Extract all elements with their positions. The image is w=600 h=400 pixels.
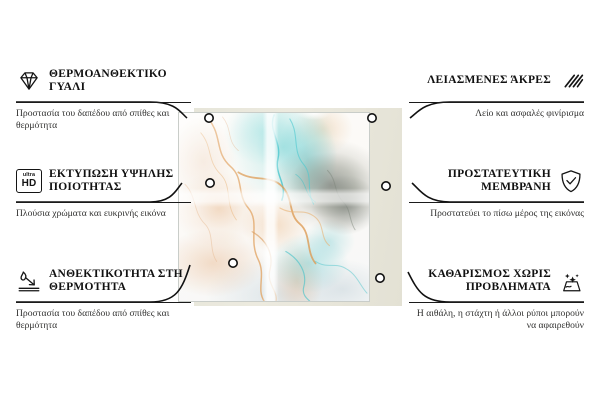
feature-description: Προστασία του δαπέδου από σπίθες και θερ…	[16, 308, 191, 332]
feature-header: ΠΡΟΣΤΑΤΕΥΤΙΚΗ ΜΕΜΒΡΑΝΗ	[409, 164, 584, 198]
feature-heat-resistant-glass: ΘΕΡΜΟΑΝΘΕΚΤΙΚΟ ΓΥΑΛΙ Προστασία του δαπέδ…	[16, 64, 191, 132]
feature-title: ΑΝΘΕΚΤΙΚΟΤΗΤΑ ΣΤΗ ΘΕΡΜΟΤΗΤΑ	[49, 268, 191, 295]
feature-divider	[16, 302, 191, 303]
feature-divider	[409, 202, 584, 203]
feature-divider	[16, 102, 191, 103]
feature-description: Η αιθάλη, η στάχτη ή άλλοι ρύποι μπορούν…	[409, 308, 584, 332]
product-image	[178, 108, 402, 306]
feature-divider	[409, 102, 584, 103]
ultra-hd-icon: ultra HD	[16, 169, 42, 193]
feature-title: ΠΡΟΣΤΑΤΕΥΤΙΚΗ ΜΕΜΒΡΑΝΗ	[409, 168, 551, 195]
artwork-ink-veins	[179, 113, 369, 301]
feature-title: ΘΕΡΜΟΑΝΘΕΚΤΙΚΟ ΓΥΑΛΙ	[49, 68, 191, 95]
feature-title: ΚΑΘΑΡΙΣΜΟΣ ΧΩΡΙΣ ΠΡΟΒΛΗΜΑΤΑ	[409, 268, 551, 295]
heat-resistance-icon	[16, 268, 42, 294]
feature-heat-resistance: ΑΝΘΕΚΤΙΚΟΤΗΤΑ ΣΤΗ ΘΕΡΜΟΤΗΤΑ Προστασία το…	[16, 264, 191, 332]
feature-description: Πλούσια χρώματα και ευκρινής εικόνα	[16, 208, 191, 220]
feature-header: ultra HD ΕΚΤΥΠΩΣΗ ΥΨΗΛΗΣ ΠΟΙΟΤΗΤΑΣ	[16, 164, 191, 198]
diamond-icon	[16, 68, 42, 94]
feature-divider	[409, 302, 584, 303]
feature-header: ΛΕΙΑΣΜΕΝΕΣ ΆΚΡΕΣ	[409, 64, 584, 98]
feature-description: Λείο και ασφαλές φινίρισμα	[409, 108, 584, 120]
feature-high-quality-print: ultra HD ΕΚΤΥΠΩΣΗ ΥΨΗΛΗΣ ΠΟΙΟΤΗΤΑΣ Πλούσ…	[16, 164, 191, 220]
feature-header: ΘΕΡΜΟΑΝΘΕΚΤΙΚΟ ΓΥΑΛΙ	[16, 64, 191, 98]
feature-description: Προστασία του δαπέδου από σπίθες και θερ…	[16, 108, 191, 132]
feature-polished-edges: ΛΕΙΑΣΜΕΝΕΣ ΆΚΡΕΣ Λείο και ασφαλές φινίρι…	[409, 64, 584, 120]
ultra-hd-icon-main-label: HD	[22, 179, 37, 189]
feature-title: ΕΚΤΥΠΩΣΗ ΥΨΗΛΗΣ ΠΟΙΟΤΗΤΑΣ	[49, 168, 191, 195]
easy-clean-icon	[558, 268, 584, 294]
shield-check-icon	[558, 168, 584, 194]
feature-easy-cleaning: ΚΑΘΑΡΙΣΜΟΣ ΧΩΡΙΣ ΠΡΟΒΛΗΜΑΤΑ Η αιθάλη, η …	[409, 264, 584, 332]
feature-description: Προστατεύει το πίσω μέρος της εικόνας	[409, 208, 584, 220]
glass-panel	[178, 112, 370, 302]
feature-protective-film: ΠΡΟΣΤΑΤΕΥΤΙΚΗ ΜΕΜΒΡΑΝΗ Προστατεύει το πί…	[409, 164, 584, 220]
feature-title: ΛΕΙΑΣΜΕΝΕΣ ΆΚΡΕΣ	[427, 74, 551, 88]
feature-header: ΚΑΘΑΡΙΣΜΟΣ ΧΩΡΙΣ ΠΡΟΒΛΗΜΑΤΑ	[409, 264, 584, 298]
feature-header: ΑΝΘΕΚΤΙΚΟΤΗΤΑ ΣΤΗ ΘΕΡΜΟΤΗΤΑ	[16, 264, 191, 298]
polished-edges-icon	[558, 68, 584, 94]
feature-divider	[16, 202, 191, 203]
product-feature-infographic: ΘΕΡΜΟΑΝΘΕΚΤΙΚΟ ΓΥΑΛΙ Προστασία του δαπέδ…	[0, 0, 600, 400]
